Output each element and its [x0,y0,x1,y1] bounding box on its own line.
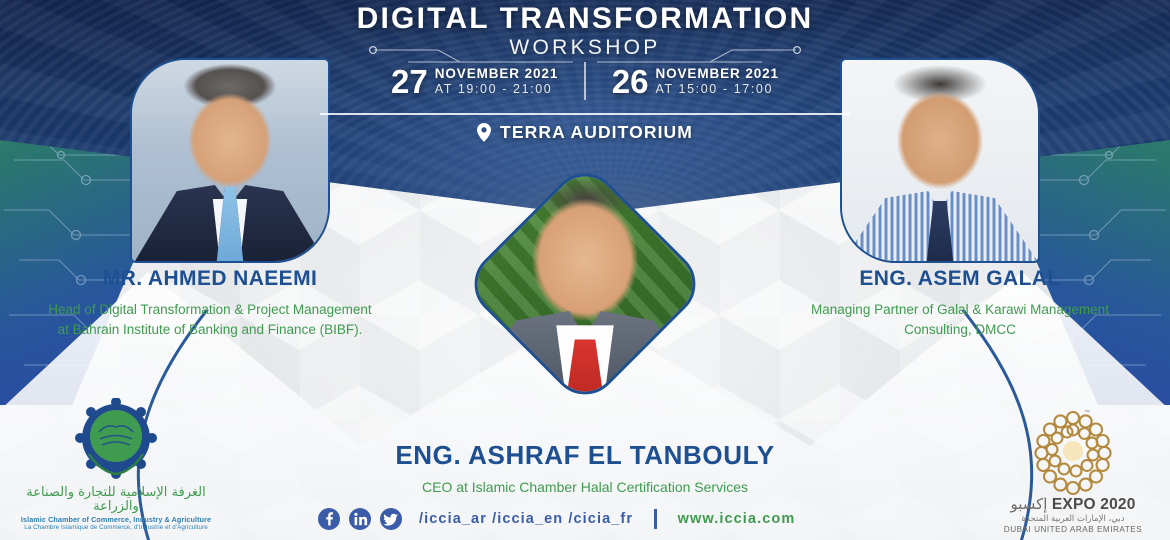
date-month: NOVEMBER 2021 [655,66,779,82]
date-month: NOVEMBER 2021 [435,66,559,82]
event-subtitle: WORKSHOP [0,36,1170,60]
event-venue: TERRA AUDITORIUM [0,122,1170,143]
date-block-2: 26 NOVEMBER 2021 AT 15:00 - 17:00 [586,65,805,98]
location-pin-icon [477,123,491,142]
event-dates: 27 NOVEMBER 2021 AT 19:00 - 21:00 26 NOV… [0,62,1170,100]
date-day: 27 [391,65,428,98]
date-block-1: 27 NOVEMBER 2021 AT 19:00 - 21:00 [365,65,584,98]
date-day: 26 [612,65,649,98]
venue-label: TERRA AUDITORIUM [500,122,693,143]
venue-divider [320,113,850,115]
banner-content: DIGITAL TRANSFORMATION WORKSHOP 27 NOVEM… [0,0,1170,540]
event-poster: DIGITAL TRANSFORMATION WORKSHOP 27 NOVEM… [0,0,1170,540]
date-time: AT 19:00 - 21:00 [435,82,559,96]
event-title: DIGITAL TRANSFORMATION [0,2,1170,36]
date-time: AT 15:00 - 17:00 [655,82,779,96]
